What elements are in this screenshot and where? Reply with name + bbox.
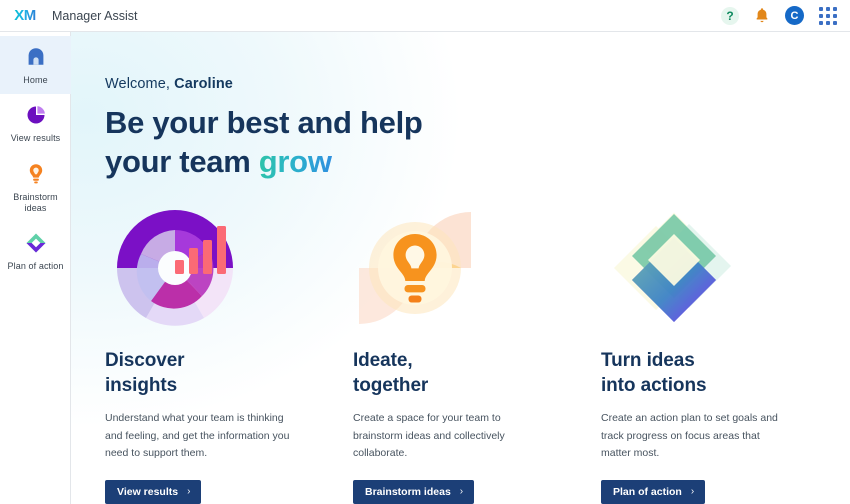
card-title: Discover insights [105, 348, 353, 399]
button-label: Plan of action [613, 486, 682, 498]
card-title: Turn ideas into actions [601, 348, 849, 399]
card-turn-ideas-into-actions: Turn ideas into actions Create an action… [601, 204, 849, 504]
diamonds-illustration [601, 204, 849, 332]
page-headline: Be your best and help your team grow [105, 103, 575, 182]
grid-dot [833, 21, 837, 25]
grid-dot [819, 21, 823, 25]
help-icon[interactable]: ? [721, 7, 739, 25]
card-description: Understand what your team is thinking an… [105, 410, 290, 462]
grid-dot [833, 7, 837, 11]
welcome-user-name: Caroline [174, 76, 233, 92]
welcome-prefix: Welcome, [105, 76, 174, 92]
plan-of-action-button[interactable]: Plan of action › [601, 480, 705, 504]
headline-line-2: your team [105, 144, 259, 179]
card-discover-insights: Discover insights Understand what your t… [105, 204, 353, 504]
card-ideate-together: Ideate, together Create a space for your… [353, 204, 601, 504]
top-navigation-bar: XM Manager Assist ? C [0, 0, 850, 32]
grid-dot [826, 7, 830, 11]
card-title: Ideate, together [353, 348, 601, 399]
sidebar-item-label: Brainstorm ideas [3, 192, 68, 215]
app-title: Manager Assist [52, 9, 137, 23]
welcome-greeting: Welcome, Caroline [105, 76, 850, 92]
grid-dot [833, 14, 837, 18]
notifications-bell-icon[interactable] [753, 7, 771, 25]
sidebar-item-plan-of-action[interactable]: Plan of action [0, 222, 71, 280]
button-label: View results [117, 486, 178, 498]
card-description: Create a space for your team to brainsto… [353, 410, 538, 462]
lightbulb-illustration [353, 204, 601, 332]
main-content-area: Welcome, Caroline Be your best and help … [71, 32, 850, 504]
app-switcher-grid-icon[interactable] [818, 7, 838, 25]
topbar-actions: ? C [721, 6, 838, 25]
xm-logo[interactable]: XM [12, 7, 38, 25]
user-avatar[interactable]: C [785, 6, 804, 25]
pie-chart-icon [24, 102, 48, 128]
view-results-button[interactable]: View results › [105, 480, 201, 504]
headline-line-1: Be your best and help [105, 105, 423, 140]
sidebar-item-label: View results [11, 133, 61, 144]
sidebar-item-label: Plan of action [8, 261, 64, 272]
manager-assist-app: XM Manager Assist ? C [0, 0, 850, 504]
diamond-icon [24, 230, 48, 256]
sidebar-item-home[interactable]: Home [0, 36, 71, 94]
home-icon [24, 44, 48, 70]
headline-accent-word: grow [259, 144, 332, 179]
grid-dot [826, 21, 830, 25]
app-body: Home View results [0, 32, 850, 504]
left-sidebar-navigation: Home View results [0, 32, 71, 504]
grid-dot [819, 14, 823, 18]
sidebar-item-view-results[interactable]: View results [0, 94, 71, 152]
grid-dot [826, 14, 830, 18]
donut-chart-illustration [105, 204, 353, 332]
chevron-right-icon: › [691, 486, 694, 497]
sidebar-item-brainstorm-ideas[interactable]: Brainstorm ideas [0, 153, 71, 223]
feature-cards-row: Discover insights Understand what your t… [105, 204, 850, 504]
lightbulb-icon [25, 161, 47, 187]
chevron-right-icon: › [460, 486, 463, 497]
button-label: Brainstorm ideas [365, 486, 451, 498]
brainstorm-ideas-button[interactable]: Brainstorm ideas › [353, 480, 474, 504]
grid-dot [819, 7, 823, 11]
card-description: Create an action plan to set goals and t… [601, 410, 786, 462]
sidebar-item-label: Home [23, 75, 47, 86]
chevron-right-icon: › [187, 486, 190, 497]
